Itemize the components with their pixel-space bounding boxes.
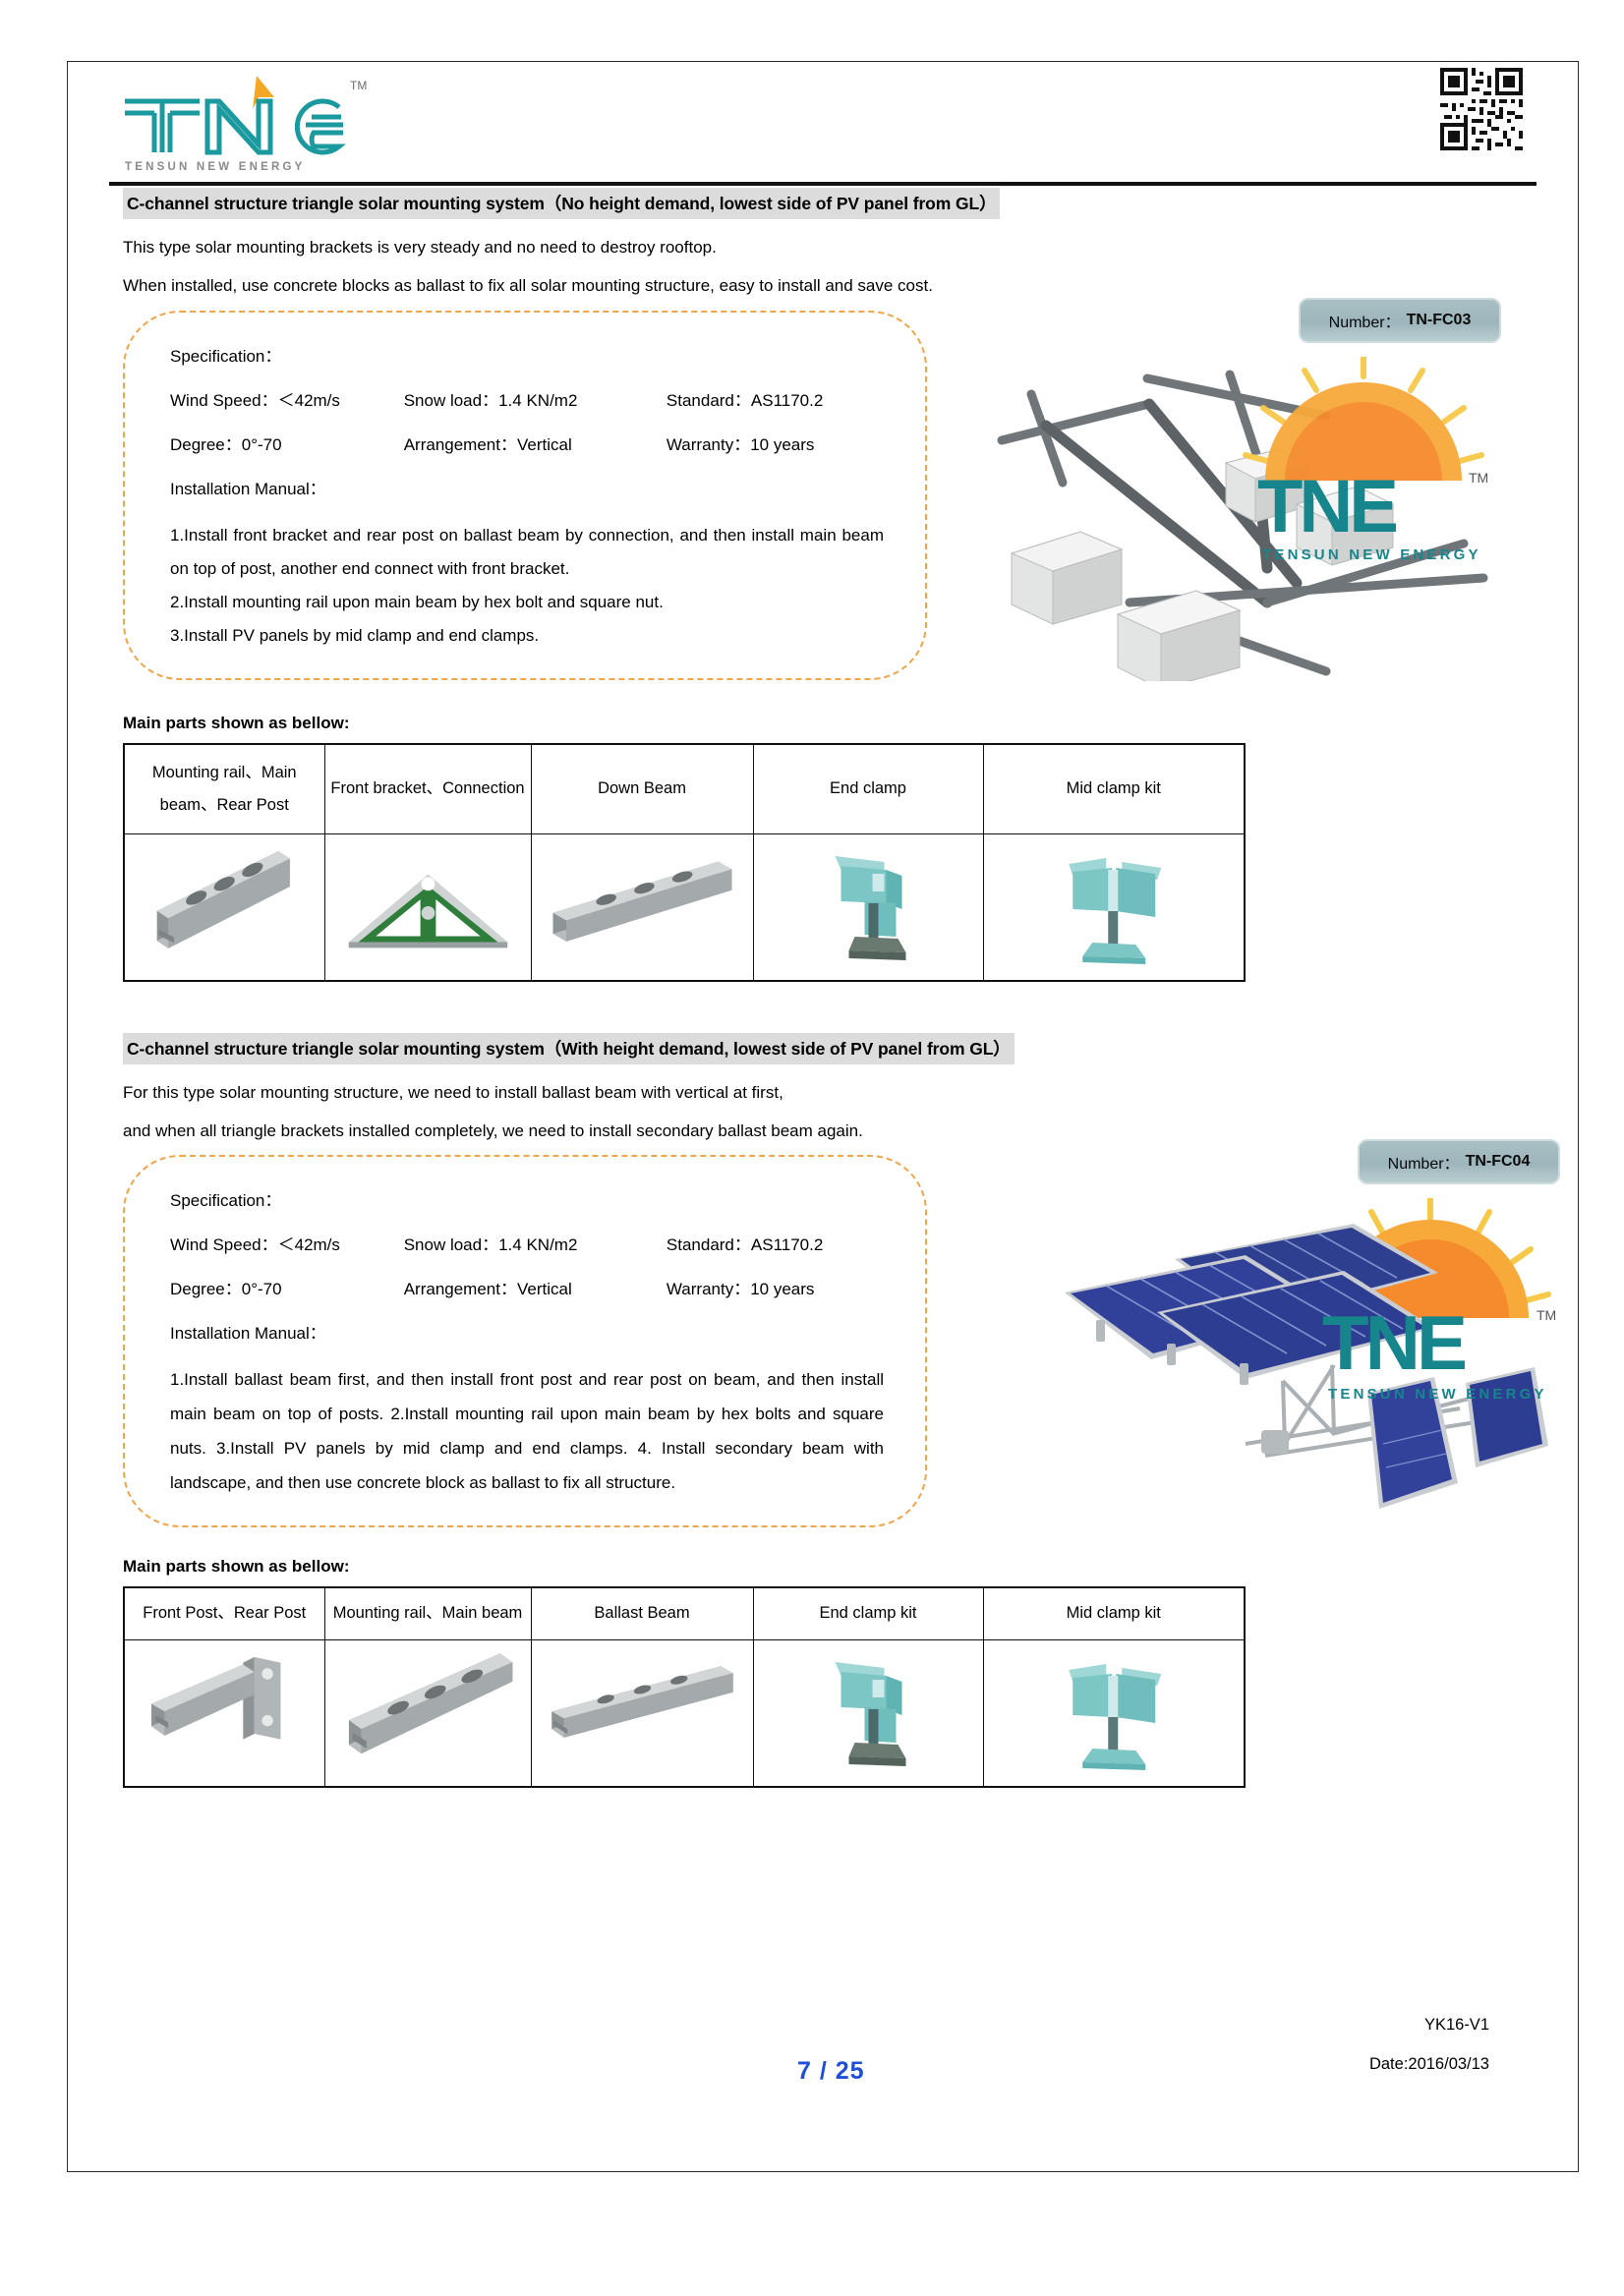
svg-text:TENSUN NEW ENERGY: TENSUN NEW ENERGY — [1328, 1386, 1547, 1403]
document-page: TM TENSUN NEW ENERGY — [67, 61, 1579, 2172]
part-header-1-3: Down Beam — [531, 744, 753, 834]
section-2-product-image: TNE TENSUN NEW ENERGY TM — [1037, 1198, 1588, 1513]
page-header: TM TENSUN NEW ENERGY — [68, 62, 1578, 188]
table-row: Front Post、Rear Post Mounting rail、Main … — [124, 1587, 1245, 1639]
section-2-spec-box: Specification： Wind Speed：＜42m/s Snow lo… — [123, 1155, 927, 1527]
manual-heading-2: Installation Manual： — [170, 1319, 884, 1344]
part-image-cell-2-4 — [753, 1640, 983, 1788]
tne-logo-icon: TM TENSUN NEW ENERGY — [109, 68, 375, 176]
spec-row-2-1: Wind Speed：＜42m/s Snow load：1.4 KN/m2 St… — [170, 1231, 884, 1255]
c-channel-rail-icon — [131, 840, 319, 974]
spec-row-1-1: Wind Speed：＜42m/s Snow load：1.4 KN/m2 St… — [170, 386, 884, 411]
part-header-2-1: Front Post、Rear Post — [124, 1587, 324, 1639]
svg-text:TM: TM — [1469, 470, 1488, 486]
section-1-product-image: TNE TENSUN NEW ENERGY TM — [972, 357, 1523, 681]
svg-text:TNE: TNE — [1257, 465, 1396, 548]
part-header-1-2: Front bracket、Connection — [324, 744, 531, 834]
spec-wind-speed-1: Wind Speed：＜42m/s — [170, 386, 404, 411]
document-id: YK16-V1 — [1424, 2016, 1489, 2035]
table-row: Mounting rail、Main beam、Rear Post Front … — [124, 744, 1245, 834]
spec-standard-1: Standard：AS1170.2 — [667, 386, 884, 411]
spec-degree-2: Degree：0°-70 — [170, 1275, 404, 1299]
section-2-parts: Main parts shown as bellow: Front Post、R… — [123, 1557, 1523, 1788]
section-2-title: C-channel structure triangle solar mount… — [123, 1033, 1015, 1064]
part-image-cell-2-3 — [531, 1640, 753, 1788]
spec-snow-load-1: Snow load：1.4 KN/m2 — [404, 386, 667, 411]
section-1: C-channel structure triangle solar mount… — [123, 188, 1523, 982]
spec-row-1-2: Degree：0°-70 Arrangement：Vertical Warran… — [170, 430, 884, 455]
page-number: 7 / 25 — [797, 2057, 865, 2086]
spec-heading-2: Specification： — [170, 1186, 884, 1211]
end-clamp-icon — [760, 840, 977, 974]
qr-code-icon — [1440, 68, 1523, 150]
section-2-paragraph-2: and when all triangle brackets installed… — [123, 1120, 1523, 1141]
pv-array-with-height-icon: TNE TENSUN NEW ENERGY TM — [1037, 1198, 1588, 1513]
section-2: C-channel structure triangle solar mount… — [123, 1033, 1523, 1789]
section-1-parts: Main parts shown as bellow: Mounting rai… — [123, 714, 1523, 982]
svg-text:TENSUN NEW ENERGY: TENSUN NEW ENERGY — [125, 161, 305, 173]
part-image-cell-1-3 — [531, 833, 753, 981]
part-image-cell-1-4 — [753, 833, 983, 981]
section-1-parts-label: Main parts shown as bellow: — [123, 714, 1523, 733]
tne-logo: TM TENSUN NEW ENERGY — [109, 68, 375, 176]
part-image-cell-2-1 — [124, 1640, 324, 1788]
part-image-cell-1-2 — [324, 833, 531, 981]
part-header-2-5: Mid clamp kit — [983, 1587, 1245, 1639]
part-header-2-3: Ballast Beam — [531, 1587, 753, 1639]
section-2-parts-table: Front Post、Rear Post Mounting rail、Main … — [123, 1586, 1246, 1788]
page-footer: 7 / 25 YK16-V1 Date:2016/03/13 — [68, 2012, 1578, 2120]
section-2-paragraph-1: For this type solar mounting structure, … — [123, 1082, 1523, 1103]
end-clamp-kit-icon — [760, 1646, 977, 1780]
part-image-cell-1-1 — [124, 833, 324, 981]
manual-item-1-2: 2.Install mounting rail upon main beam b… — [170, 586, 884, 619]
part-image-cell-2-5 — [983, 1640, 1245, 1788]
badge-value-1: TN-FC03 — [1407, 312, 1472, 329]
part-header-1-4: End clamp — [753, 744, 983, 834]
mid-clamp-kit-icon-2 — [990, 1646, 1239, 1780]
header-rule — [109, 182, 1537, 186]
section-1-paragraph-2: When installed, use concrete blocks as b… — [123, 275, 1523, 296]
spec-snow-load-2: Snow load：1.4 KN/m2 — [404, 1231, 667, 1255]
table-row — [124, 833, 1245, 981]
part-header-2-2: Mounting rail、Main beam — [324, 1587, 531, 1639]
mid-clamp-kit-icon — [990, 840, 1239, 974]
badge-value-2: TN-FC04 — [1466, 1153, 1531, 1171]
section-1-paragraph-1: This type solar mounting brackets is ver… — [123, 237, 1523, 258]
spec-wind-speed-2: Wind Speed：＜42m/s — [170, 1231, 404, 1255]
spec-arrangement-2: Arrangement：Vertical — [404, 1275, 667, 1299]
triangle-front-bracket-icon — [331, 840, 525, 974]
manual-item-1-1: 1.Install front bracket and rear post on… — [170, 519, 884, 586]
spec-standard-2: Standard：AS1170.2 — [667, 1231, 884, 1255]
manual-item-2-1: 1.Install ballast beam first, and then i… — [170, 1363, 884, 1500]
product-number-badge-2: Number： TN-FC04 — [1358, 1139, 1560, 1184]
spec-heading-1: Specification： — [170, 342, 884, 367]
part-image-cell-2-2 — [324, 1640, 531, 1788]
section-1-spec-box: Specification： Wind Speed：＜42m/s Snow lo… — [123, 311, 927, 680]
table-row — [124, 1640, 1245, 1788]
part-header-2-4: End clamp kit — [753, 1587, 983, 1639]
part-header-1-1: Mounting rail、Main beam、Rear Post — [124, 744, 324, 834]
spec-degree-1: Degree：0°-70 — [170, 430, 404, 455]
svg-text:TM: TM — [350, 79, 367, 92]
document-date: Date:2016/03/13 — [1369, 2055, 1489, 2074]
spec-arrangement-1: Arrangement：Vertical — [404, 430, 667, 455]
down-beam-icon — [538, 840, 747, 974]
part-header-1-5: Mid clamp kit — [983, 744, 1245, 834]
part-image-cell-1-5 — [983, 833, 1245, 981]
triangle-mounting-structure-icon: TNE TENSUN NEW ENERGY TM — [972, 357, 1523, 681]
section-1-title: C-channel structure triangle solar mount… — [123, 188, 1000, 219]
mounting-rail-main-beam-icon — [331, 1646, 525, 1780]
badge-label-1: Number： — [1329, 309, 1401, 332]
ballast-beam-icon — [538, 1646, 747, 1780]
front-rear-post-icon — [131, 1646, 319, 1780]
manual-item-1-3: 3.Install PV panels by mid clamp and end… — [170, 619, 884, 653]
svg-text:TENSUN NEW ENERGY: TENSUN NEW ENERGY — [1262, 546, 1481, 563]
spec-warranty-2: Warranty：10 years — [667, 1275, 884, 1299]
section-1-parts-table: Mounting rail、Main beam、Rear Post Front … — [123, 743, 1246, 982]
spec-row-2-2: Degree：0°-70 Arrangement：Vertical Warran… — [170, 1275, 884, 1299]
spec-warranty-1: Warranty：10 years — [667, 430, 884, 455]
manual-heading-1: Installation Manual： — [170, 475, 884, 499]
page-content: C-channel structure triangle solar mount… — [68, 188, 1578, 1788]
svg-text:TM: TM — [1537, 1307, 1556, 1323]
product-number-badge-1: Number： TN-FC03 — [1299, 298, 1501, 343]
svg-text:TNE: TNE — [1322, 1299, 1465, 1386]
badge-label-2: Number： — [1388, 1150, 1460, 1174]
section-2-parts-label: Main parts shown as bellow: — [123, 1557, 1523, 1577]
